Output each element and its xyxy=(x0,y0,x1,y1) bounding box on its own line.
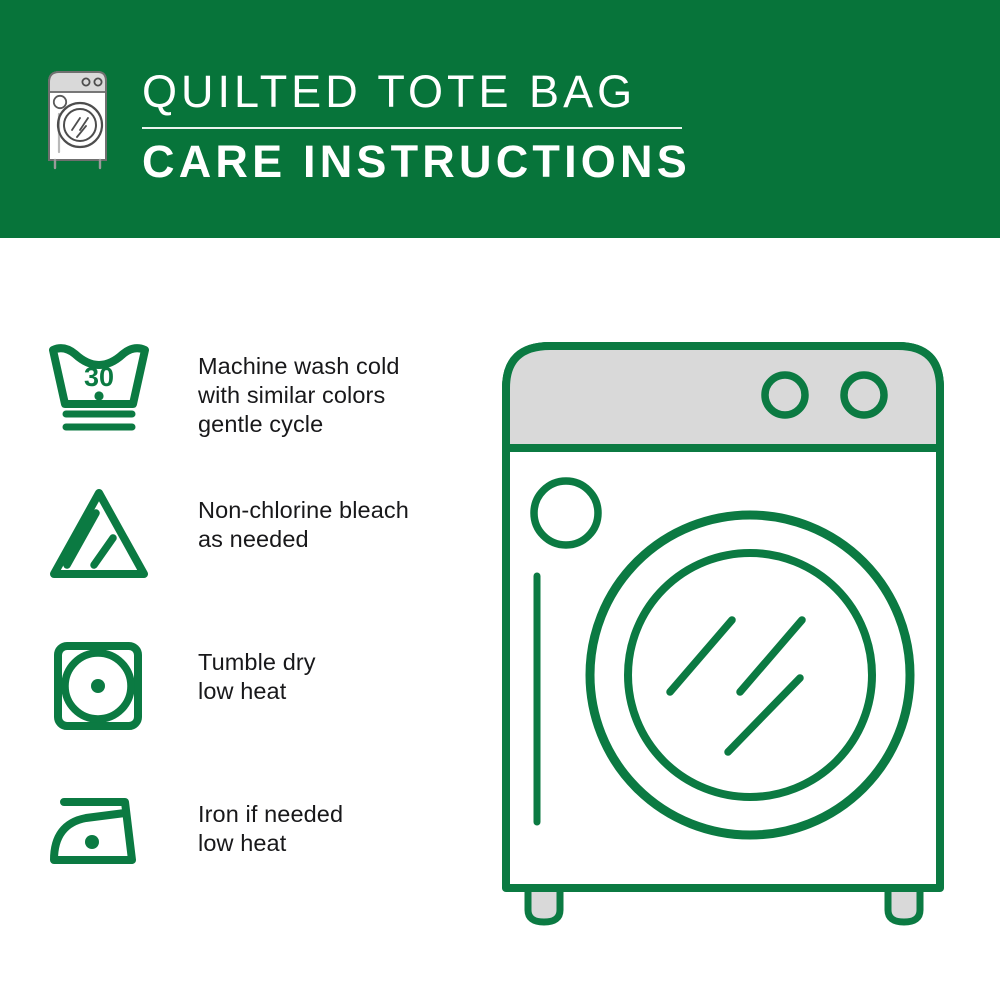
care-text-line: as needed xyxy=(198,525,409,554)
care-text-line: Tumble dry xyxy=(198,648,316,677)
care-item-iron: Iron if needed low heat xyxy=(46,790,476,870)
header-banner: QUILTED TOTE BAG CARE INSTRUCTIONS xyxy=(0,0,1000,238)
care-text-line: with similar colors xyxy=(198,381,400,410)
care-text-line: gentle cycle xyxy=(198,410,400,439)
care-item-tumble-dry: Tumble dry low heat xyxy=(46,638,476,734)
care-item-iron-text: Iron if needed low heat xyxy=(198,790,343,858)
care-text-line: Iron if needed xyxy=(198,800,343,829)
care-item-tumble-dry-text: Tumble dry low heat xyxy=(198,638,316,706)
care-item-bleach: Non-chlorine bleach as needed xyxy=(46,486,476,582)
wash-tub-30-gentle-icon: 30 xyxy=(46,342,156,434)
care-item-bleach-text: Non-chlorine bleach as needed xyxy=(198,486,409,554)
page-subtitle: CARE INSTRUCTIONS xyxy=(142,136,702,188)
care-text-line: Non-chlorine bleach xyxy=(198,496,409,525)
care-item-machine-wash: 30 Machine wash cold with similar colors… xyxy=(46,342,476,439)
wash-temperature-label: 30 xyxy=(84,362,114,392)
care-instructions-infographic: QUILTED TOTE BAG CARE INSTRUCTIONS 30 Ma… xyxy=(0,0,1000,1000)
header-title-group: QUILTED TOTE BAG CARE INSTRUCTIONS xyxy=(142,66,702,188)
care-text-line: low heat xyxy=(198,677,316,706)
washing-machine-illustration xyxy=(488,330,980,930)
iron-low-heat-icon xyxy=(46,790,156,870)
care-text-line: low heat xyxy=(198,829,343,858)
care-instructions-list: 30 Machine wash cold with similar colors… xyxy=(0,238,500,1000)
title-divider xyxy=(142,127,682,129)
washer-control-panel xyxy=(506,346,940,448)
non-chlorine-bleach-triangle-icon xyxy=(46,486,156,582)
care-item-machine-wash-text: Machine wash cold with similar colors ge… xyxy=(198,342,400,439)
tumble-dry-low-heat-icon xyxy=(46,638,156,734)
page-title: QUILTED TOTE BAG xyxy=(142,66,702,118)
washing-machine-logo-icon xyxy=(44,68,110,170)
care-text-line: Machine wash cold xyxy=(198,352,400,381)
